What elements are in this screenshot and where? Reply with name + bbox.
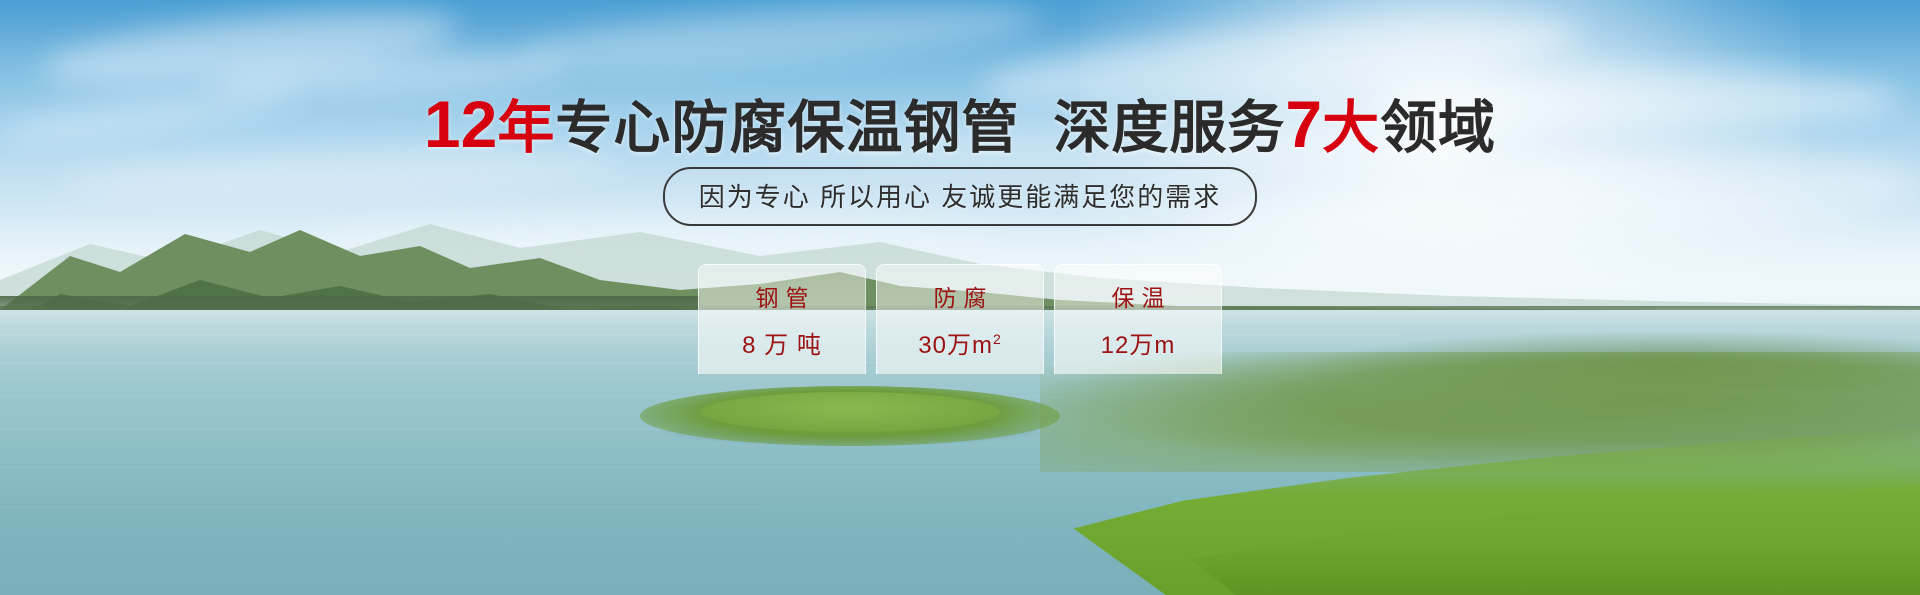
- banner-headline: 12年专心防腐保温钢管深度服务7大领域: [0, 82, 1920, 164]
- stat-card-label: 钢管: [749, 279, 816, 313]
- headline-years-number: 12: [424, 87, 497, 161]
- hero-banner: 12年专心防腐保温钢管深度服务7大领域 因为专心 所以用心 友诚更能满足您的需求…: [0, 0, 1920, 595]
- stat-card-steel-pipe: 钢管 8 万 吨: [698, 264, 866, 374]
- stat-card-value-exponent: 2: [993, 331, 1002, 347]
- stat-card-value-text: 12万m: [1101, 332, 1176, 359]
- stat-card-insulation: 保温 12万m: [1054, 264, 1222, 374]
- stat-card-group: 钢管 8 万 吨 防腐 30万m2 保温 12万m: [0, 264, 1920, 374]
- headline-fields-measure: 大: [1322, 96, 1380, 160]
- stat-card-value: 8 万 吨: [742, 325, 822, 360]
- stat-card-value: 30万m2: [918, 325, 1001, 360]
- banner-subtitle-pill: 因为专心 所以用心 友诚更能满足您的需求: [663, 167, 1257, 226]
- headline-main-phrase: 专心防腐保温钢管: [555, 96, 1019, 160]
- banner-content: 12年专心防腐保温钢管深度服务7大领域 因为专心 所以用心 友诚更能满足您的需求…: [0, 0, 1920, 595]
- stat-card-label: 防腐: [927, 279, 994, 313]
- stat-card-value-text: 8 万 吨: [742, 332, 822, 359]
- headline-fields-number: 7: [1285, 87, 1322, 161]
- headline-years-unit: 年: [497, 96, 555, 160]
- stat-card-value: 12万m: [1101, 325, 1176, 360]
- stat-card-anticorrosion: 防腐 30万m2: [876, 264, 1044, 374]
- banner-subtitle-wrap: 因为专心 所以用心 友诚更能满足您的需求: [0, 167, 1920, 226]
- stat-card-value-text: 30万m: [918, 332, 993, 359]
- stat-card-label: 保温: [1105, 279, 1172, 313]
- headline-service-phrase: 深度服务: [1053, 96, 1285, 160]
- headline-fields-noun: 领域: [1380, 96, 1496, 160]
